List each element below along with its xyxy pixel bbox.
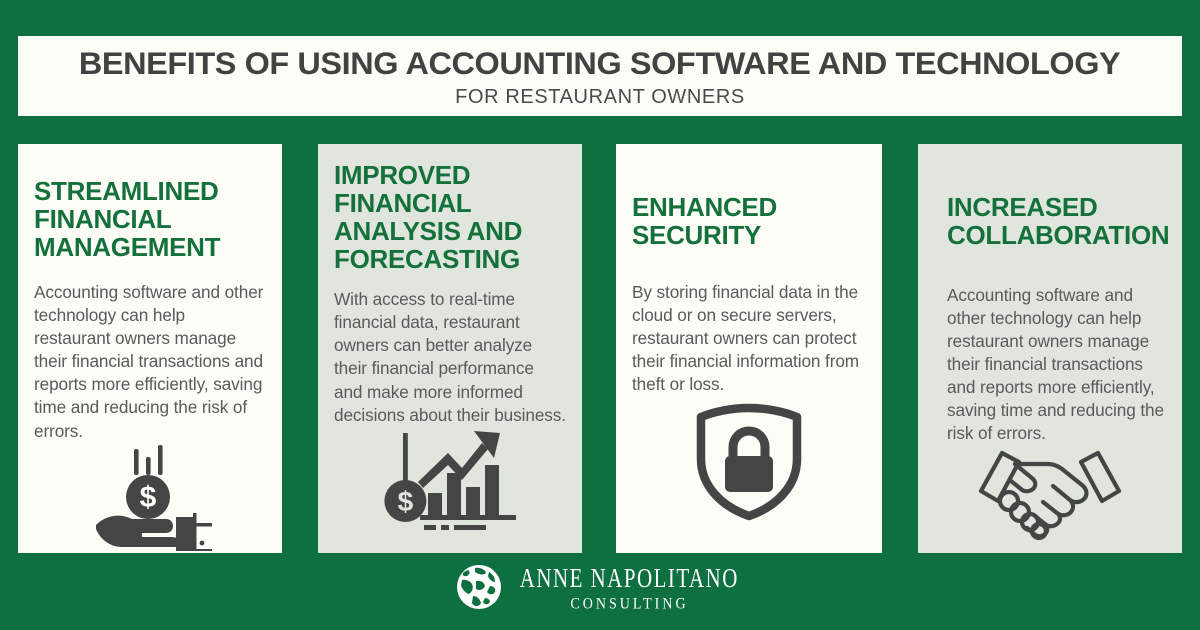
page-subtitle: FOR RESTAURANT OWNERS [455, 87, 745, 107]
footer-logo: ANNE NAPOLITANO CONSULTING [0, 563, 1200, 616]
card-icon-slot [632, 403, 866, 521]
page-title: BENEFITS OF USING ACCOUNTING SOFTWARE AN… [79, 47, 1120, 80]
card-title: STREAMLINED FINANCIAL MANAGEMENT [34, 177, 266, 261]
benefit-card-streamlined-financial-management: STREAMLINED FINANCIAL MANAGEMENT Account… [18, 144, 282, 553]
svg-text:$: $ [398, 486, 414, 517]
globe-icon [455, 563, 503, 616]
benefit-card-enhanced-security: ENHANCED SECURITY By storing financial d… [616, 144, 882, 553]
card-title: INCREASED COLLABORATION [947, 193, 1166, 249]
card-title: ENHANCED SECURITY [632, 193, 866, 249]
card-icon-slot [934, 445, 1166, 545]
handshake-icon [975, 445, 1125, 545]
card-body: With access to real-time financial data,… [334, 288, 566, 426]
card-body: Accounting software and other technology… [947, 284, 1166, 445]
benefit-card-increased-collaboration: INCREASED COLLABORATION Accounting softw… [918, 144, 1182, 553]
card-body: By storing financial data in the cloud o… [632, 281, 866, 396]
shield-lock-icon [693, 403, 805, 521]
brand-subtitle: CONSULTING [570, 597, 688, 613]
svg-text:$: $ [140, 481, 157, 514]
logo-wordmark: ANNE NAPOLITANO CONSULTING [514, 567, 745, 612]
brand-name: ANNE NAPOLITANO [520, 564, 739, 592]
card-body: Accounting software and other technology… [34, 281, 266, 442]
benefit-card-improved-financial-analysis: IMPROVED FINANCIAL ANALYSIS AND FORECAST… [318, 144, 582, 553]
card-icon-slot: $ [34, 443, 266, 551]
card-title: IMPROVED FINANCIAL ANALYSIS AND FORECAST… [334, 161, 566, 273]
infographic-poster: BENEFITS OF USING ACCOUNTING SOFTWARE AN… [0, 0, 1200, 630]
benefit-card-list: STREAMLINED FINANCIAL MANAGEMENT Account… [0, 144, 1200, 554]
hand-holding-coin-icon: $ [92, 443, 212, 551]
header-bar: BENEFITS OF USING ACCOUNTING SOFTWARE AN… [18, 36, 1182, 116]
card-icon-slot: $ [334, 427, 566, 533]
growth-chart-coin-icon: $ [382, 427, 522, 533]
